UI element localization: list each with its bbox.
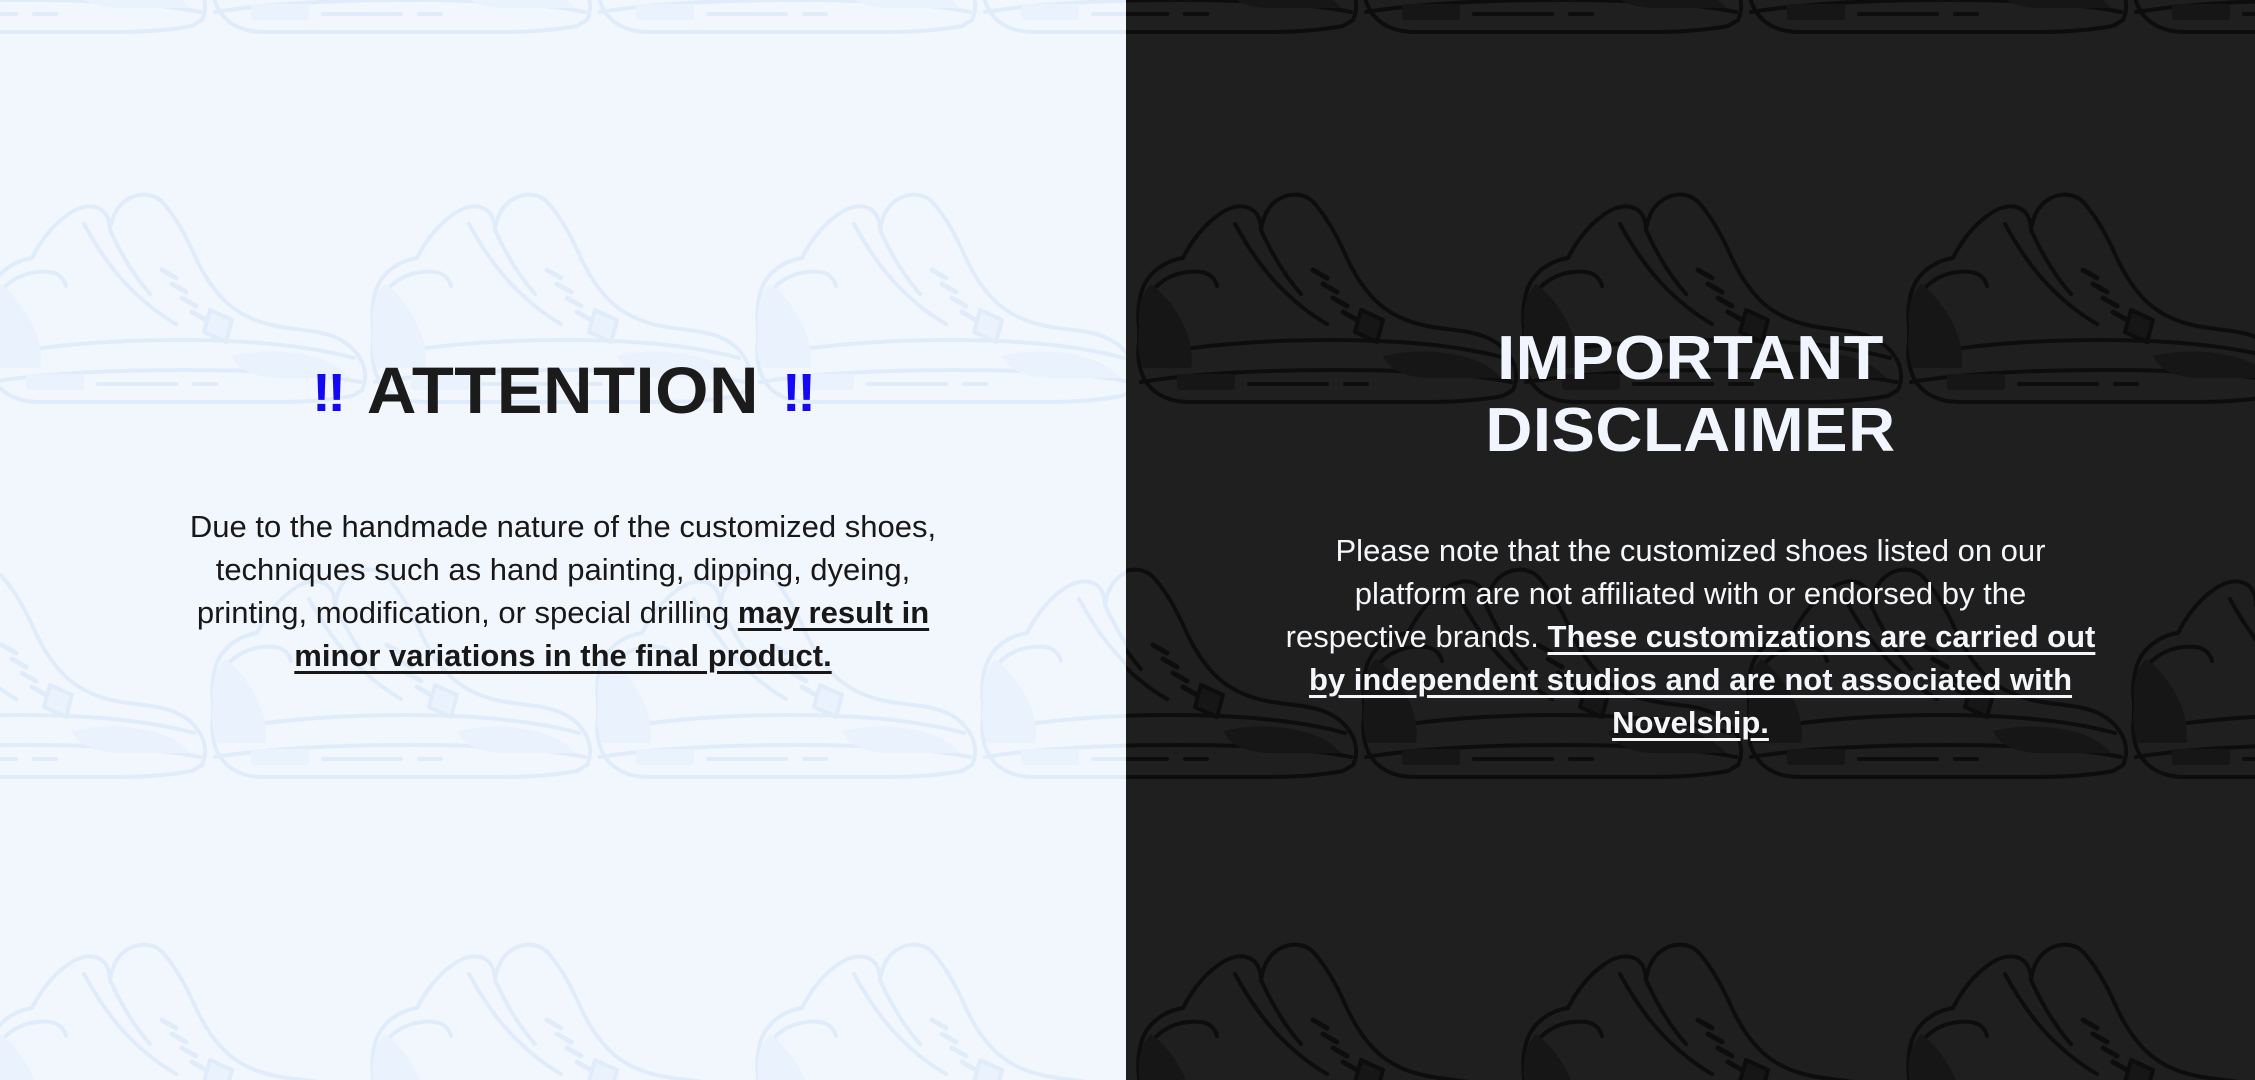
disclaimer-banner: ‼ATTENTION‼ Due to the handmade nature o… [0,0,2255,1080]
attention-heading: ‼ATTENTION‼ [0,354,1126,429]
attention-body: Due to the handmade nature of the custom… [158,505,968,677]
disclaimer-body: Please note that the customized shoes li… [1281,529,2101,744]
double-exclamation-right-icon: ‼ [782,363,814,423]
attention-panel: ‼ATTENTION‼ Due to the handmade nature o… [0,0,1126,1080]
disclaimer-content: IMPORTANT DISCLAIMER Please note that th… [1126,0,2255,1080]
disclaimer-panel: IMPORTANT DISCLAIMER Please note that th… [1126,0,2255,1080]
attention-content: ‼ATTENTION‼ Due to the handmade nature o… [0,0,1126,1080]
disclaimer-heading-line-1: IMPORTANT [1126,328,2255,390]
attention-heading-text: ATTENTION [367,353,759,427]
disclaimer-heading-line-2: DISCLAIMER [1126,400,2255,462]
double-exclamation-left-icon: ‼ [312,363,344,423]
disclaimer-heading: IMPORTANT DISCLAIMER [1126,328,2255,462]
